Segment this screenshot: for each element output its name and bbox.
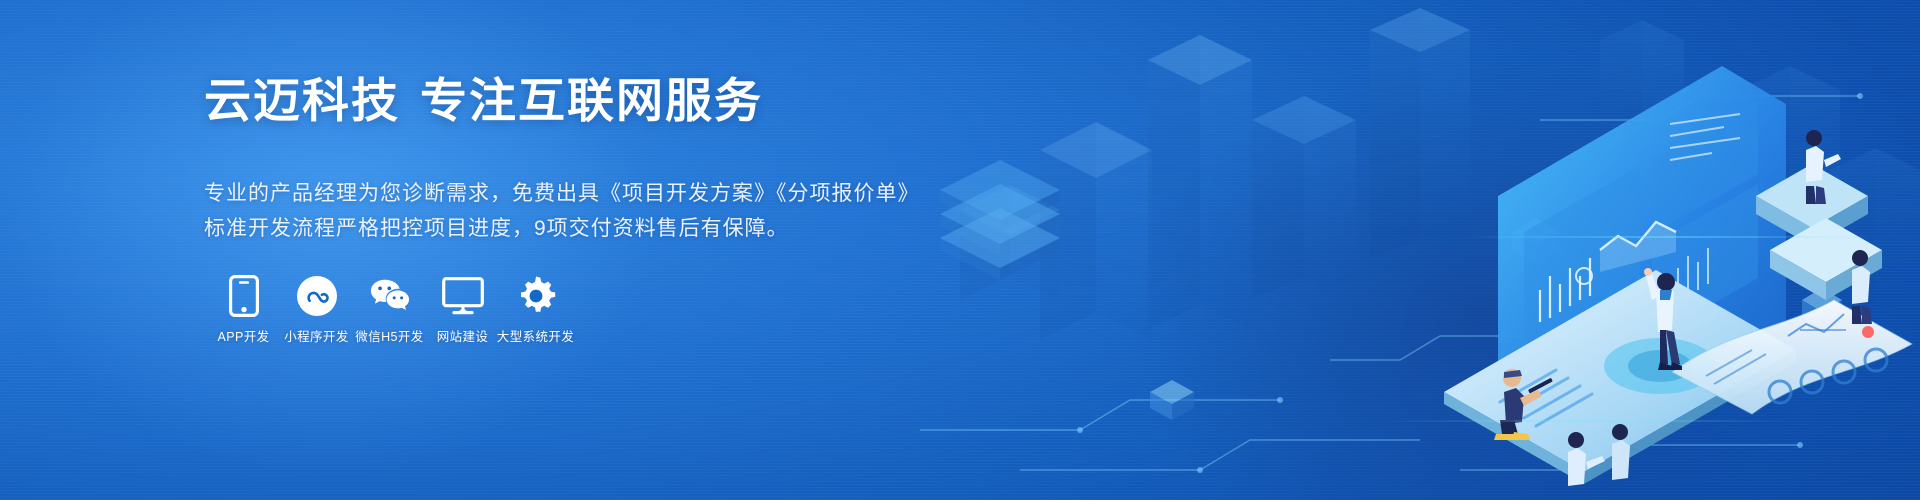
monitor-icon xyxy=(442,275,484,317)
service-item-wechat-h5[interactable]: 微信H5开发 xyxy=(353,275,426,345)
page-title: 云迈科技专注互联网服务 xyxy=(204,74,763,129)
mini-program-icon xyxy=(296,275,338,317)
banner-content: 云迈科技专注互联网服务 专业的产品经理为您诊断需求，免费出具《项目开发方案》《分… xyxy=(204,0,964,500)
service-item-website[interactable]: 网站建设 xyxy=(426,275,499,345)
service-item-large-system[interactable]: 大型系统开发 xyxy=(499,275,572,345)
gear-icon xyxy=(515,275,557,317)
wechat-icon xyxy=(369,275,411,317)
background-glow-right xyxy=(980,0,1920,500)
service-label: 网站建设 xyxy=(437,326,489,345)
isometric-tech-illustration xyxy=(900,0,1920,500)
service-list: APP开发 小程序开发 xyxy=(207,275,572,345)
service-item-mini-program[interactable]: 小程序开发 xyxy=(280,275,353,345)
service-item-app[interactable]: APP开发 xyxy=(207,275,280,345)
service-label: APP开发 xyxy=(217,326,269,345)
subtitle-line-1: 专业的产品经理为您诊断需求，免费出具《项目开发方案》《分项报价单》 xyxy=(204,178,920,210)
headline-brand: 云迈科技 xyxy=(204,74,400,127)
service-label: 小程序开发 xyxy=(284,326,349,345)
mobile-phone-icon xyxy=(223,275,265,317)
hero-banner: 云迈科技专注互联网服务 专业的产品经理为您诊断需求，免费出具《项目开发方案》《分… xyxy=(0,0,1920,500)
service-label: 大型系统开发 xyxy=(497,326,574,345)
subtitle-line-2: 标准开发流程严格把控项目进度，9项交付资料售后有保障。 xyxy=(204,213,789,245)
headline-tagline: 专注互联网服务 xyxy=(420,74,763,127)
service-label: 微信H5开发 xyxy=(355,326,423,345)
